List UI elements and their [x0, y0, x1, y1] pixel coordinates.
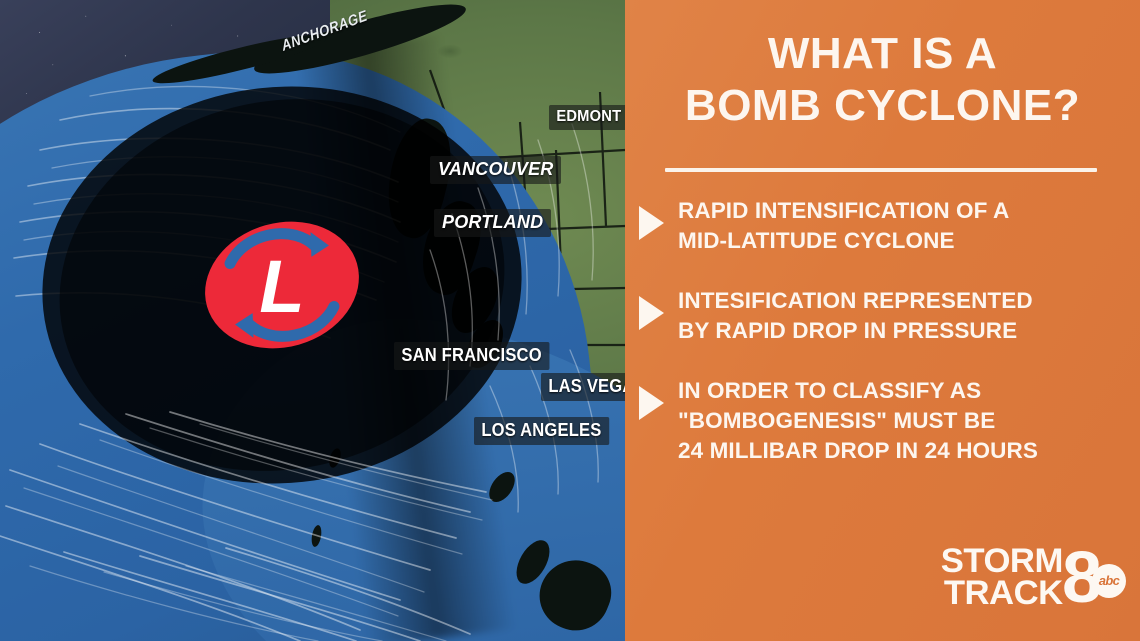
- bullet-1-line-2: MID-LATITUDE CYCLONE: [678, 226, 1009, 256]
- weather-graphic: L ANCHORAGE EDMONT VANCOUVER PORTLAND SA…: [0, 0, 1140, 641]
- title-divider: [665, 168, 1097, 172]
- bullet-3-line-2: "BOMBOGENESIS" MUST BE: [678, 406, 1038, 436]
- city-label-las-vegas: LAS VEGA: [541, 373, 625, 401]
- logo-word-track: TRACK: [944, 578, 1063, 609]
- triangle-bullet-icon: [639, 206, 664, 240]
- bullet-3-line-3: 24 MILLIBAR DROP IN 24 HOURS: [678, 436, 1038, 466]
- city-label-los-angeles: LOS ANGELES: [474, 417, 609, 445]
- city-label-edmonton: EDMONT: [549, 105, 625, 130]
- low-pressure-letter: L: [259, 245, 304, 328]
- triangle-bullet-icon: [639, 386, 664, 420]
- bullet-2-line-2: BY RAPID DROP IN PRESSURE: [678, 316, 1033, 346]
- abc-network-label: abc: [1099, 573, 1120, 588]
- page-title: WHAT IS A BOMB CYCLONE?: [625, 28, 1140, 132]
- map-panel: L ANCHORAGE EDMONT VANCOUVER PORTLAND SA…: [0, 0, 625, 641]
- abc-network-badge: abc: [1092, 564, 1126, 598]
- city-label-san-francisco: SAN FRANCISCO: [394, 342, 549, 370]
- city-label-vancouver: VANCOUVER: [430, 156, 561, 184]
- low-pressure-marker: L: [202, 216, 362, 354]
- bullet-item-2: INTESIFICATION REPRESENTED BY RAPID DROP…: [639, 286, 1140, 346]
- bullet-3-line-1: IN ORDER TO CLASSIFY AS: [678, 376, 1038, 406]
- bullet-text-1: RAPID INTENSIFICATION OF A MID-LATITUDE …: [678, 196, 1009, 256]
- city-label-portland: PORTLAND: [434, 209, 551, 237]
- logo-wordmark: STORM TRACK: [942, 546, 1062, 609]
- station-logo: STORM TRACK 8 abc: [942, 546, 1126, 609]
- bullet-2-line-1: INTESIFICATION REPRESENTED: [678, 286, 1033, 316]
- bullet-1-line-1: RAPID INTENSIFICATION OF A: [678, 196, 1009, 226]
- bullet-list: RAPID INTENSIFICATION OF A MID-LATITUDE …: [639, 196, 1140, 496]
- triangle-bullet-icon: [639, 296, 664, 330]
- title-line-1: WHAT IS A: [625, 28, 1140, 80]
- bullet-item-3: IN ORDER TO CLASSIFY AS "BOMBOGENESIS" M…: [639, 376, 1140, 466]
- info-panel: WHAT IS A BOMB CYCLONE? RAPID INTENSIFIC…: [625, 0, 1140, 641]
- bullet-text-3: IN ORDER TO CLASSIFY AS "BOMBOGENESIS" M…: [678, 376, 1038, 466]
- title-line-2: BOMB CYCLONE?: [625, 80, 1140, 132]
- bullet-text-2: INTESIFICATION REPRESENTED BY RAPID DROP…: [678, 286, 1033, 346]
- bullet-item-1: RAPID INTENSIFICATION OF A MID-LATITUDE …: [639, 196, 1140, 256]
